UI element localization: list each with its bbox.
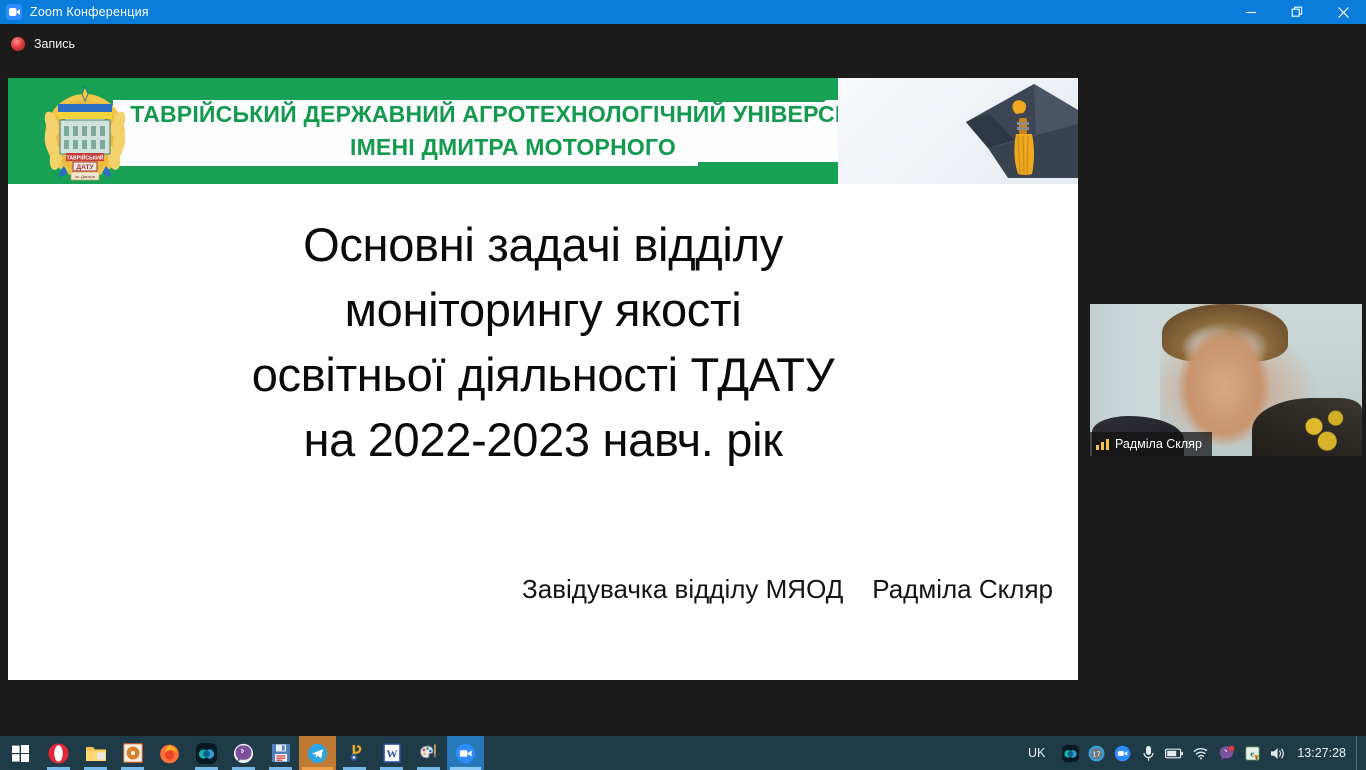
wifi-tray-icon[interactable] xyxy=(1187,736,1213,770)
media-player-taskbar-icon[interactable] xyxy=(114,736,151,770)
zoom-taskbar-icon[interactable] xyxy=(447,736,484,770)
battery-tray-icon[interactable] xyxy=(1161,736,1187,770)
banner-title-line1: ТАВРІЙСЬКИЙ ДЕРЖАВНИЙ АГРОТЕХНОЛОГІЧНИЙ … xyxy=(118,98,908,131)
word-taskbar-icon[interactable]: W xyxy=(373,736,410,770)
windows-taskbar: W UK xyxy=(0,736,1366,770)
banner-title-line2: ІМЕНІ ДМИТРА МОТОРНОГО xyxy=(118,131,908,164)
window-title: Zoom Конференция xyxy=(30,5,149,19)
svg-text:ім. Дмитра: ім. Дмитра xyxy=(75,174,96,179)
zoom-tray-icon[interactable] xyxy=(1109,736,1135,770)
volume-tray-icon[interactable] xyxy=(1265,736,1291,770)
security-warning-tray-icon[interactable]: e xyxy=(1239,736,1265,770)
telegram-taskbar-icon[interactable] xyxy=(299,736,336,770)
svg-text:ДАТУ: ДАТУ xyxy=(76,164,94,171)
svg-text:W: W xyxy=(386,748,397,760)
slide-title: Основні задачі відділу моніторингу якост… xyxy=(8,212,1078,472)
svg-text:17: 17 xyxy=(1092,750,1100,758)
banner-green-bar-bottom xyxy=(698,162,848,184)
paint-taskbar-icon[interactable] xyxy=(410,736,447,770)
system-tray: UK 17 xyxy=(1016,736,1366,770)
start-button[interactable] xyxy=(0,736,40,770)
minimize-icon[interactable] xyxy=(1228,0,1274,24)
updates-badge-tray-icon[interactable]: 17 xyxy=(1083,736,1109,770)
slide-subtitle: Завідувачка відділу МЯОД Радміла Скляр xyxy=(8,574,1053,605)
viber-taskbar-icon[interactable] xyxy=(225,736,262,770)
participant-video-tile[interactable]: Радміла Скляр xyxy=(1090,304,1362,456)
window-title-bar: Zoom Конференция xyxy=(0,0,1366,24)
participant-name: Радміла Скляр xyxy=(1115,437,1202,451)
microphone-tray-icon[interactable] xyxy=(1135,736,1161,770)
file-explorer-taskbar-icon[interactable] xyxy=(77,736,114,770)
save-disk-taskbar-icon[interactable] xyxy=(262,736,299,770)
firefox-taskbar-icon[interactable] xyxy=(151,736,188,770)
graduation-cap-photo xyxy=(838,78,1078,184)
video-clothing-pattern xyxy=(1296,408,1356,454)
language-indicator[interactable]: UK xyxy=(1016,746,1057,760)
opera-taskbar-icon[interactable] xyxy=(40,736,77,770)
tdatu-university-emblem: ТАВРІЙСЬКИЙ ДАТУ ім. Дмитра xyxy=(42,84,128,182)
banner-title: ТАВРІЙСЬКИЙ ДЕРЖАВНИЙ АГРОТЕХНОЛОГІЧНИЙ … xyxy=(118,98,908,164)
record-indicator-icon xyxy=(11,37,25,51)
shared-screen-slide: ТАВРІЙСЬКИЙ ДАТУ ім. Дмитра ТАВРІЙСЬКИЙ … xyxy=(8,78,1078,680)
university-banner: ТАВРІЙСЬКИЙ ДАТУ ім. Дмитра ТАВРІЙСЬКИЙ … xyxy=(8,78,1078,184)
svg-text:ТАВРІЙСЬКИЙ: ТАВРІЙСЬКИЙ xyxy=(66,154,103,162)
close-icon[interactable] xyxy=(1320,0,1366,24)
svg-text:e: e xyxy=(1250,748,1254,758)
zoom-camera-icon xyxy=(6,4,22,20)
viber-tray-icon[interactable] xyxy=(1213,736,1239,770)
show-desktop-button[interactable] xyxy=(1356,736,1362,770)
webex-taskbar-icon[interactable] xyxy=(188,736,225,770)
window-controls xyxy=(1228,0,1366,24)
recording-bar: Запись xyxy=(0,24,1366,64)
restore-icon[interactable] xyxy=(1274,0,1320,24)
key-taskbar-icon[interactable] xyxy=(336,736,373,770)
webex-tray-icon[interactable] xyxy=(1057,736,1083,770)
recording-label: Запись xyxy=(34,37,75,51)
signal-bars-icon xyxy=(1096,438,1109,450)
participant-name-bar: Радміла Скляр xyxy=(1090,432,1212,456)
taskbar-clock[interactable]: 13:27:28 xyxy=(1291,746,1356,760)
